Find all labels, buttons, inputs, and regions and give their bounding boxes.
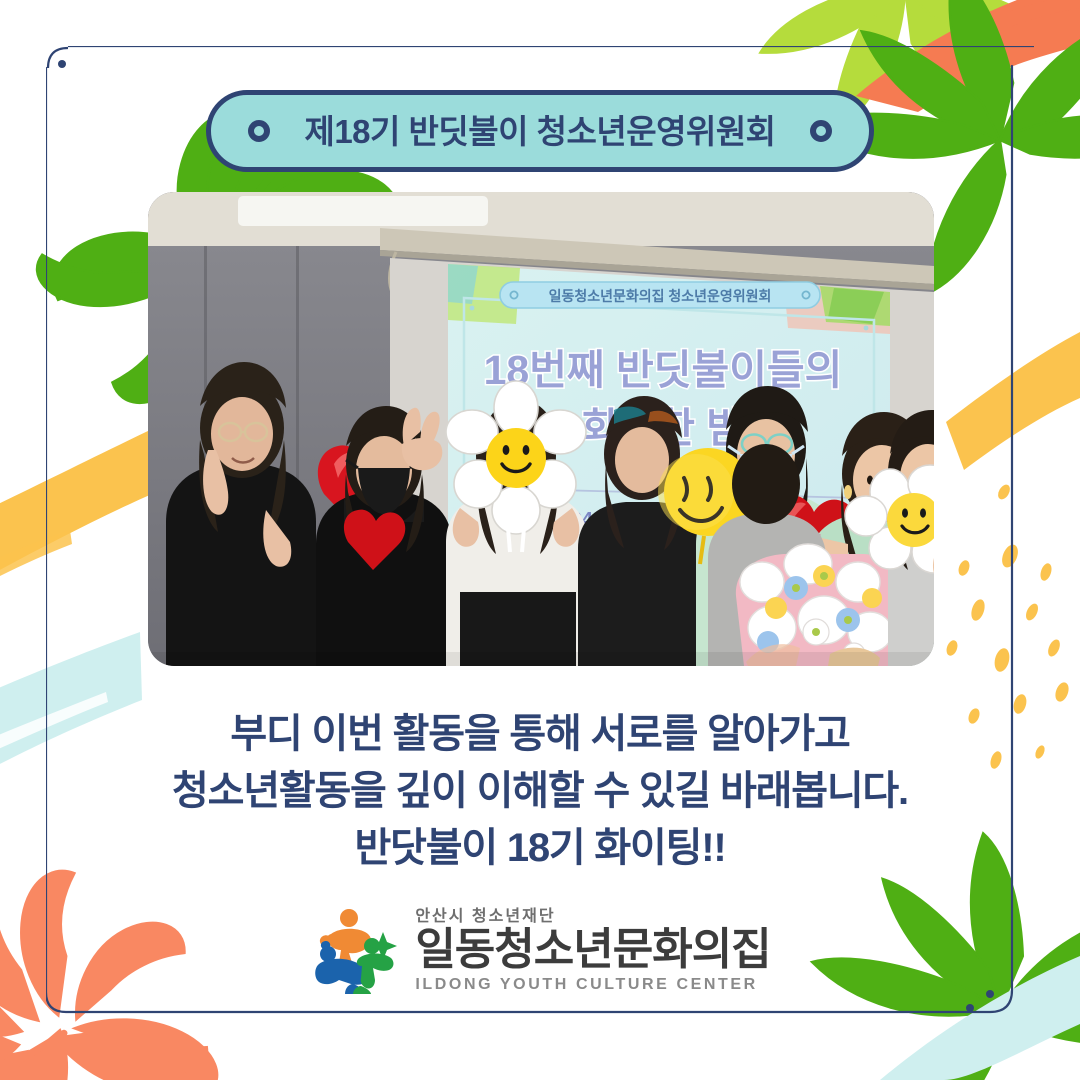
logo-foundation-name: 안산시 청소년재단 xyxy=(415,909,555,925)
slide-header-text: 일동청소년문화의집 청소년운영위원회 xyxy=(549,288,772,304)
caption-line-1: 부디 이번 활동을 통해 서로를 알아가고 xyxy=(60,706,1020,763)
promo-card: 제18기 반딧불이 청소년운영위원회 xyxy=(0,0,1080,1080)
logo-text-block: 안산시 청소년재단 일동청소년문화의집 ILDONG YOUTH CULTURE… xyxy=(415,909,770,993)
brush-stroke-yellow-right xyxy=(946,332,1080,470)
group-photo: 일동청소년문화의집 청소년운영위원회 18번째 반딧불이들의 화려한 밤 202… xyxy=(148,192,934,666)
three-figures-logo-icon xyxy=(309,908,401,994)
logo-center-name-en: ILDONG YOUTH CULTURE CENTER xyxy=(415,977,758,993)
organization-logo: 안산시 청소년재단 일동청소년문화의집 ILDONG YOUTH CULTURE… xyxy=(0,898,1080,1004)
frame-dot-topleft xyxy=(58,60,66,68)
slide-header-badge: 일동청소년문화의집 청소년운영위원회 xyxy=(500,282,820,308)
caption-block: 부디 이번 활동을 통해 서로를 알아가고 청소년활동을 깊이 이해할 수 있길… xyxy=(60,706,1020,876)
logo-center-name-kr: 일동청소년문화의집 xyxy=(415,928,770,973)
student-3 xyxy=(446,381,588,666)
title-pill: 제18기 반딧불이 청소년운영위원회 xyxy=(206,90,874,172)
circle-outline-icon-left xyxy=(248,120,270,142)
brush-stroke-orange-topright xyxy=(856,0,1080,112)
circle-outline-icon-right xyxy=(810,120,832,142)
caption-line-3: 반닷불이 18기 화이팅!! xyxy=(60,820,1020,877)
brush-stroke-yellow-left xyxy=(0,430,152,578)
slide-title-line1: 18번째 반딧불이들의 xyxy=(484,347,843,393)
frame-dot-bottomright-b xyxy=(966,1004,974,1012)
page-title: 제18기 반딧불이 청소년운영위원회 xyxy=(304,115,775,148)
caption-line-2: 청소년활동을 깊이 이해할 수 있길 바래봅니다. xyxy=(60,763,1020,820)
